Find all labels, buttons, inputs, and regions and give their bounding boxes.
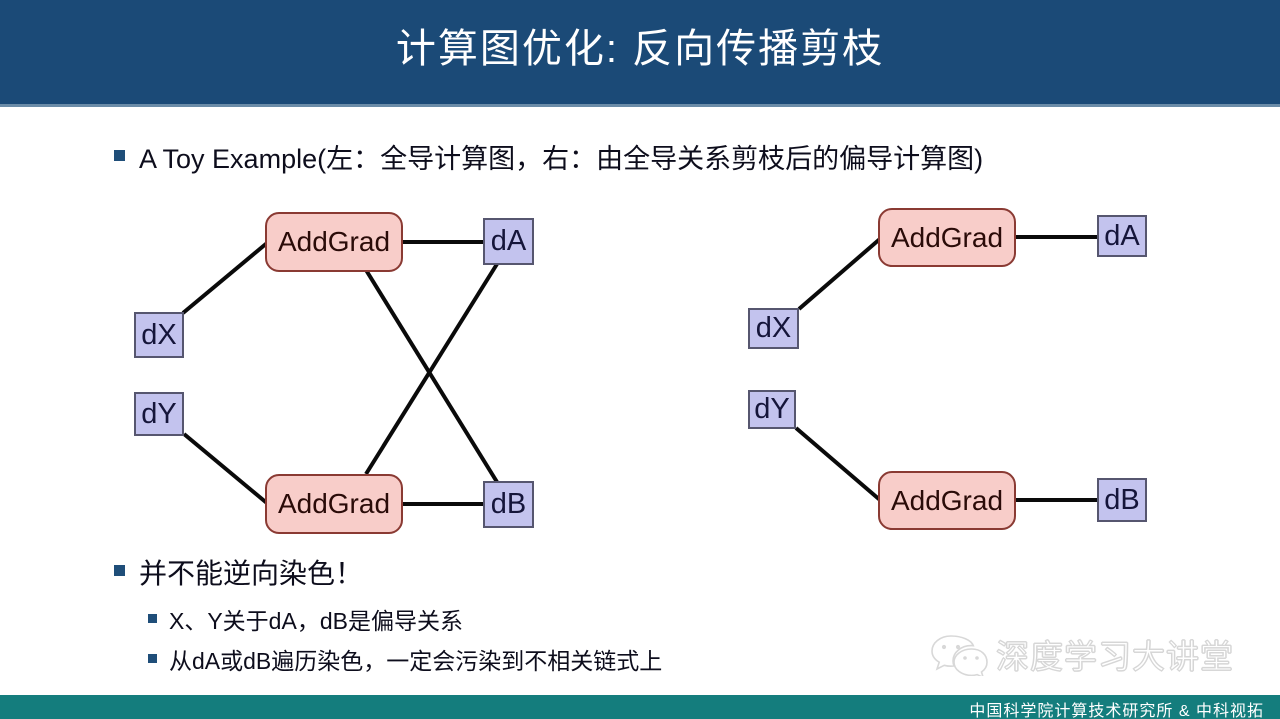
node-left-dx[interactable]: dX: [134, 312, 184, 358]
node-left-dy[interactable]: dY: [134, 392, 184, 436]
node-right-db[interactable]: dB: [1097, 478, 1147, 522]
node-left-dy-label: dY: [141, 398, 176, 431]
bullet-marker-icon: [148, 614, 157, 623]
node-right-db-label: dB: [1104, 484, 1139, 517]
node-right-da[interactable]: dA: [1097, 215, 1147, 257]
bullet-sub-item-2: 从dA或dB遍历染色，一定会污染到不相关链式上: [148, 647, 662, 676]
watermark-text: 深度学习大讲堂: [996, 630, 1234, 678]
edge-dy-addgrad-bottom-right: [796, 428, 880, 500]
node-left-addgrad-top[interactable]: AddGrad: [265, 212, 403, 272]
bullet-sub-item-1: X、Y关于dA，dB是偏导关系: [148, 607, 463, 636]
footer-text: 中国科学院计算技术研究所 & 中科视拓: [969, 697, 1264, 719]
node-left-db[interactable]: dB: [483, 481, 534, 528]
edge-dy-addgrad-bottom-left: [184, 434, 268, 504]
edge-dx-addgrad-top-right: [799, 238, 881, 309]
edge-dx-addgrad-top-left: [183, 243, 267, 313]
node-left-db-label: dB: [491, 488, 526, 521]
bullet-no-reverse-color-label: 并不能逆向染色！: [139, 557, 363, 591]
bullet-no-reverse-color: 并不能逆向染色！: [114, 557, 363, 591]
node-left-da[interactable]: dA: [483, 218, 534, 265]
node-right-dy-label: dY: [754, 393, 789, 426]
node-left-dx-label: dX: [141, 319, 176, 352]
node-right-dx[interactable]: dX: [748, 308, 799, 349]
edge-addgrad-top-db-left: [366, 270, 497, 482]
node-right-addgrad-bottom-label: AddGrad: [891, 485, 1003, 517]
node-left-addgrad-bottom[interactable]: AddGrad: [265, 474, 403, 534]
node-right-addgrad-top[interactable]: AddGrad: [878, 208, 1016, 267]
bullet-marker-icon: [148, 654, 157, 663]
node-left-addgrad-top-label: AddGrad: [278, 226, 390, 258]
node-right-addgrad-bottom[interactable]: AddGrad: [878, 471, 1016, 530]
bullet-sub-item-2-label: 从dA或dB遍历染色，一定会污染到不相关链式上: [169, 647, 662, 676]
watermark: 深度学习大讲堂: [930, 628, 1260, 680]
bullet-marker-icon: [114, 565, 125, 576]
node-right-addgrad-top-label: AddGrad: [891, 222, 1003, 254]
node-left-addgrad-bottom-label: AddGrad: [278, 488, 390, 520]
edge-addgrad-bottom-da-left: [366, 264, 497, 474]
slide: 计算图优化: 反向传播剪枝 A Toy Example(左：全导计算图，右：由全…: [0, 0, 1280, 719]
node-right-dy[interactable]: dY: [748, 390, 796, 429]
node-left-da-label: dA: [491, 225, 526, 258]
node-right-dx-label: dX: [756, 312, 791, 345]
bullet-sub-item-1-label: X、Y关于dA，dB是偏导关系: [169, 607, 463, 636]
node-right-da-label: dA: [1104, 220, 1139, 253]
wechat-icon: [930, 632, 988, 676]
